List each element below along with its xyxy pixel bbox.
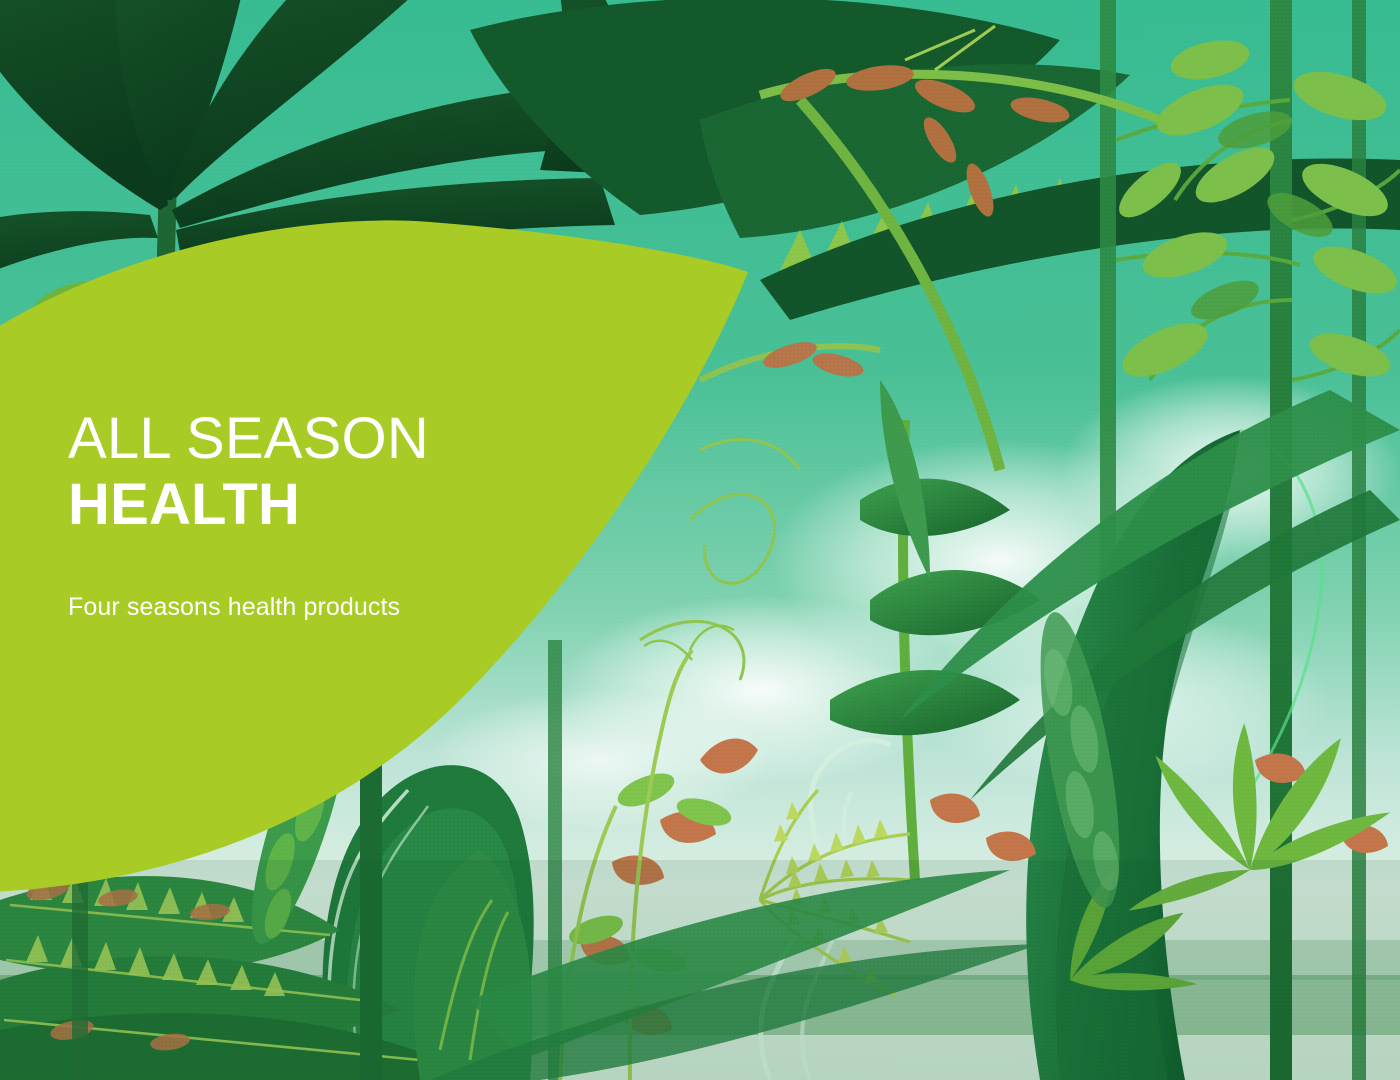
hero-title-line-1: ALL SEASON	[68, 408, 588, 470]
hero-title-line-2: HEALTH	[68, 470, 588, 540]
hero-copy-block: ALL SEASON HEALTH Four seasons health pr…	[68, 408, 588, 622]
poster-canvas: ALL SEASON HEALTH Four seasons health pr…	[0, 0, 1400, 1080]
hero-subtitle: Four seasons health products	[68, 592, 588, 622]
